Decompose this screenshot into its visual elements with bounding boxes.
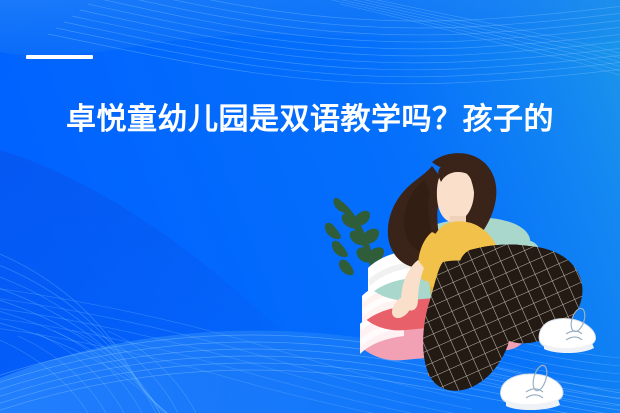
page-title: 卓悦童幼儿园是双语教学吗？孩子的 — [0, 101, 620, 139]
illustration-woman-on-books — [0, 0, 620, 413]
poster-canvas: 卓悦童幼儿园是双语教学吗？孩子的 — [0, 0, 620, 413]
accent-rule — [26, 55, 93, 59]
sneaker-lower — [501, 364, 563, 410]
